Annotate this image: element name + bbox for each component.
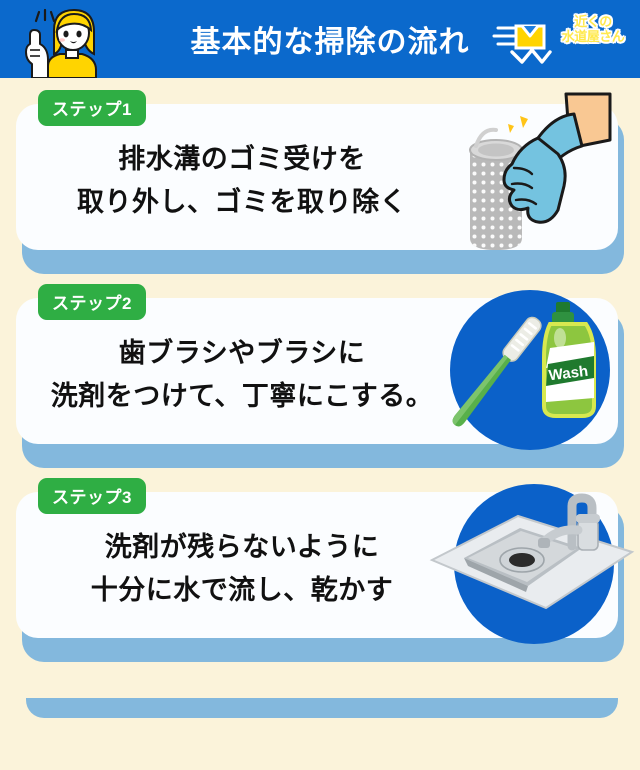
steps-list: ステップ1 排水溝のゴミ受けを 取り外し、ゴミを取り除く — [0, 78, 640, 662]
step-text-2: 歯ブラシやブラシに 洗剤をつけて、丁寧にこする。 — [16, 332, 468, 418]
step-text-line-1: 洗剤が残らないように — [16, 526, 468, 569]
step-card-2[interactable]: ステップ2 歯ブラシやブラシに 洗剤をつけて、丁寧にこする。 — [16, 298, 624, 468]
step-text-line-2: 取り外し、ゴミを取り除く — [16, 181, 468, 224]
step-text-line-1: 歯ブラシやブラシに — [16, 332, 468, 375]
step-badge-1: ステップ1 — [38, 90, 146, 126]
step-text-line-1: 排水溝のゴミ受けを — [16, 138, 468, 181]
step-card-3[interactable]: ステップ3 洗剤が残らないように 十分に水で流し、乾かす — [16, 492, 624, 662]
step-text-1: 排水溝のゴミ受けを 取り外し、ゴミを取り除く — [16, 138, 468, 224]
bottom-accent-strip — [26, 698, 618, 718]
brand-logo-text: 近くの 水道屋さん — [550, 14, 636, 44]
brand-line-1: 近くの — [574, 14, 612, 29]
step-text-3: 洗剤が残らないように 十分に水で流し、乾かす — [16, 526, 468, 612]
step-text-line-2: 洗剤をつけて、丁寧にこする。 — [16, 375, 468, 418]
step-card-1[interactable]: ステップ1 排水溝のゴミ受けを 取り外し、ゴミを取り除く — [16, 104, 624, 274]
step-text-line-2: 十分に水で流し、乾かす — [16, 569, 468, 612]
step-badge-3: ステップ3 — [38, 478, 146, 514]
step-badge-2: ステップ2 — [38, 284, 146, 320]
brand-logo[interactable]: 近くの 水道屋さん — [492, 12, 632, 70]
header-banner: 基本的な掃除の流れ 近くの 水道屋さん — [0, 0, 640, 78]
brand-line-2: 水道屋さん — [562, 29, 625, 44]
